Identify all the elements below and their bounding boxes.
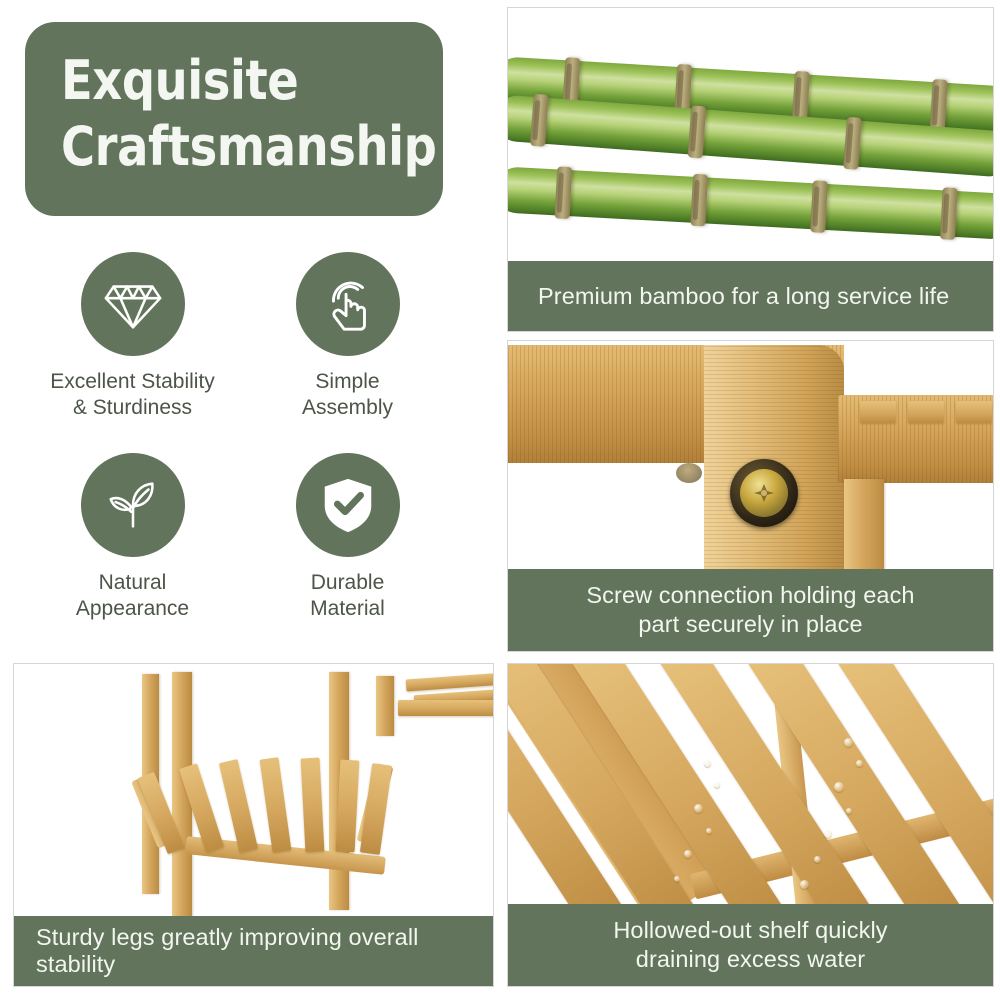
panel-caption: Premium bamboo for a long service life (508, 261, 993, 331)
feature-natural-appearance: Natural Appearance (30, 453, 235, 632)
water-droplet (856, 760, 863, 767)
panel-shelf-legs: Sturdy legs greatly improving overall st… (13, 663, 494, 987)
feature-label: Durable Material (310, 570, 385, 622)
bamboo-node (555, 166, 573, 219)
panel-caption: Hollowed-out shelf quickly draining exce… (508, 904, 993, 986)
tap-hand-icon (296, 252, 400, 356)
water-droplet (834, 782, 844, 792)
bamboo-node (530, 94, 549, 147)
panel-bamboo-stalks: Premium bamboo for a long service life (507, 7, 994, 332)
screw-hole-secondary (676, 463, 702, 483)
water-droplet (704, 760, 711, 767)
shelf-slat (301, 758, 325, 853)
water-droplet (844, 738, 853, 747)
leaf-plant-icon (81, 453, 185, 557)
bamboo-node (940, 187, 958, 240)
panel-hollow-slats: Hollowed-out shelf quickly draining exce… (507, 663, 994, 987)
title-card: Exquisite Craftsmanship (25, 22, 443, 216)
water-droplet (706, 828, 712, 834)
feature-label: Natural Appearance (76, 570, 189, 622)
title-line-2: Craftsmanship (61, 114, 390, 180)
diamond-icon (81, 252, 185, 356)
feature-label: Simple Assembly (302, 369, 393, 421)
water-droplet (684, 850, 692, 858)
bamboo-node (843, 117, 862, 170)
bamboo-node (810, 180, 828, 233)
water-droplet (714, 782, 720, 788)
screw-cross-slot-icon (753, 482, 775, 504)
water-droplet (674, 876, 680, 882)
panel-caption-text: Screw connection holding each part secur… (586, 581, 914, 638)
panel-caption: Sturdy legs greatly improving overall st… (14, 916, 493, 986)
title-line-1: Exquisite (61, 48, 390, 114)
shelf-slat (406, 673, 494, 692)
water-droplet (814, 856, 821, 863)
shield-check-icon (296, 453, 400, 557)
feature-grid: Excellent Stability & Sturdiness Simple … (30, 252, 450, 632)
bamboo-node (688, 105, 707, 158)
shelf-slat (336, 760, 360, 853)
bamboo-node (690, 174, 708, 227)
panel-screw-joint: Screw connection holding each part secur… (507, 340, 994, 652)
water-droplet (800, 880, 809, 889)
shelf-slat (908, 401, 944, 423)
feature-durable-material: Durable Material (245, 453, 450, 632)
shelf-slat (398, 700, 494, 716)
water-droplet (846, 808, 852, 814)
shelf-slat (860, 401, 896, 423)
feature-excellent-stability: Excellent Stability & Sturdiness (30, 252, 235, 431)
shelf-slat (260, 757, 292, 853)
water-droplet (824, 830, 832, 838)
shelf-slat (956, 401, 992, 423)
shelf-slat (219, 759, 258, 853)
wood-leg (376, 676, 394, 736)
feature-simple-assembly: Simple Assembly (245, 252, 450, 431)
bamboo-node (930, 79, 948, 132)
panel-caption-text: Hollowed-out shelf quickly draining exce… (613, 916, 887, 973)
water-droplet (694, 804, 703, 813)
bamboo-stalk (507, 166, 994, 240)
feature-label: Excellent Stability & Sturdiness (50, 369, 215, 421)
panel-caption: Screw connection holding each part secur… (508, 569, 993, 651)
